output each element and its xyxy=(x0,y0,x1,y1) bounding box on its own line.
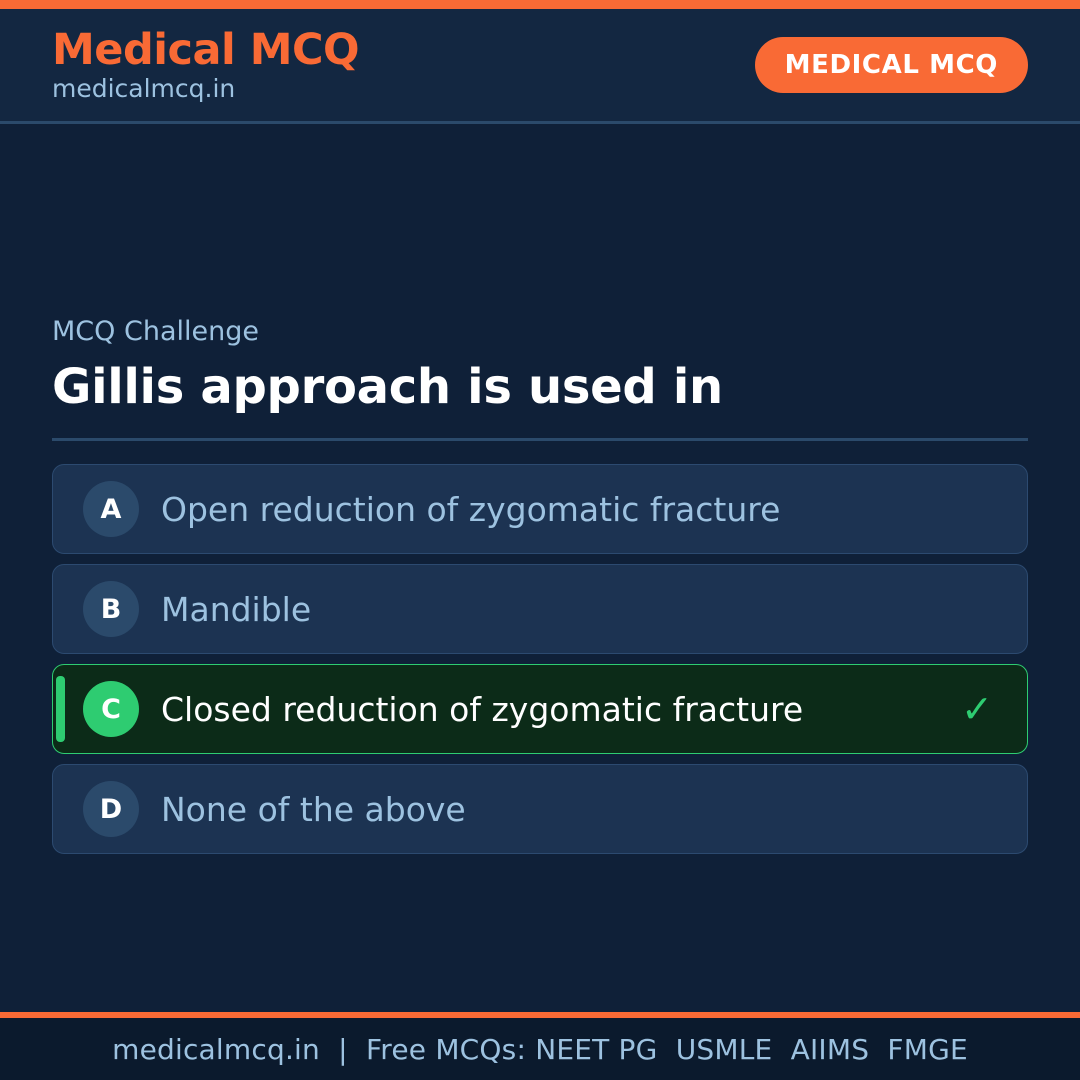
page-header: Medical MCQ medicalmcq.in MEDICAL MCQ xyxy=(0,9,1080,124)
top-spacer xyxy=(52,124,1028,317)
option-text: Closed reduction of zygomatic fracture xyxy=(161,690,957,730)
footer-text: medicalmcq.in | Free MCQs: NEET PG USMLE… xyxy=(112,1033,968,1066)
option-c[interactable]: C Closed reduction of zygomatic fracture… xyxy=(52,664,1028,754)
question-divider xyxy=(52,438,1028,441)
option-letter-badge: B xyxy=(83,581,139,637)
brand-subtitle: medicalmcq.in xyxy=(52,75,359,103)
eyebrow-label: MCQ Challenge xyxy=(52,317,1028,347)
option-letter-badge: C xyxy=(83,681,139,737)
brand-block: Medical MCQ medicalmcq.in xyxy=(52,28,359,103)
option-b[interactable]: B Mandible ✓ xyxy=(52,564,1028,654)
header-badge: MEDICAL MCQ xyxy=(755,37,1028,93)
mcq-card: Medical MCQ medicalmcq.in MEDICAL MCQ MC… xyxy=(0,0,1080,1080)
options-list: A Open reduction of zygomatic fracture ✓… xyxy=(52,464,1028,854)
option-text: Mandible xyxy=(161,590,957,630)
option-letter-badge: D xyxy=(83,781,139,837)
brand-title: Medical MCQ xyxy=(52,28,359,73)
page-footer: medicalmcq.in | Free MCQs: NEET PG USMLE… xyxy=(0,1018,1080,1080)
option-text: None of the above xyxy=(161,790,957,830)
correct-accent-bar xyxy=(56,676,65,742)
top-accent-bar xyxy=(0,0,1080,9)
option-a[interactable]: A Open reduction of zygomatic fracture ✓ xyxy=(52,464,1028,554)
option-letter-badge: A xyxy=(83,481,139,537)
question-text: Gillis approach is used in xyxy=(52,359,1028,416)
option-text: Open reduction of zygomatic fracture xyxy=(161,490,957,530)
main-content: MCQ Challenge Gillis approach is used in… xyxy=(0,124,1080,1012)
check-icon: ✓ xyxy=(957,690,997,728)
option-d[interactable]: D None of the above ✓ xyxy=(52,764,1028,854)
